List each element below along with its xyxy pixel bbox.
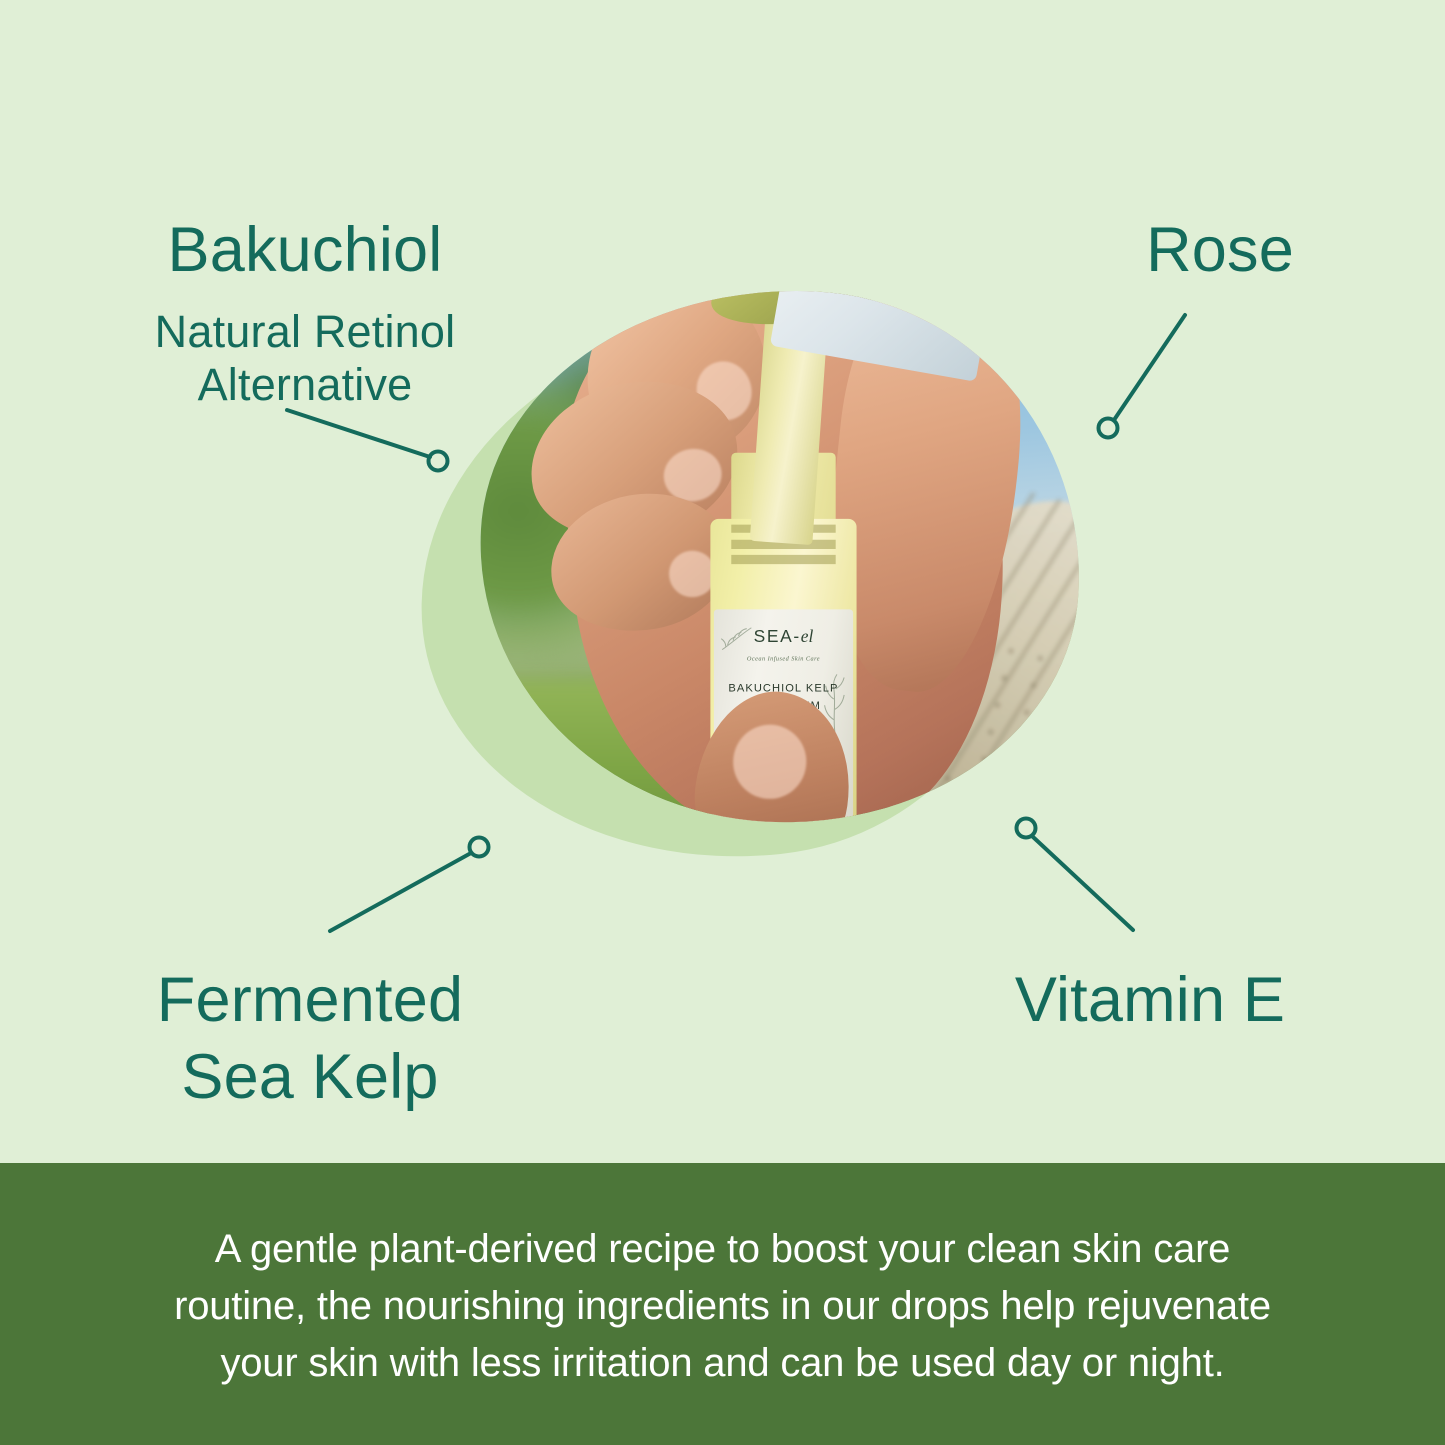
- ring-marker-rose: [1099, 419, 1118, 438]
- ingredient-label-fermented-sea-kelp: Fermented Sea Kelp: [65, 945, 555, 1133]
- brand-script: el: [801, 627, 814, 646]
- product-photo-blob-mask: SEA-el Ocean Infused Skin Care BAKUCHIOL…: [466, 275, 1093, 838]
- ingredient-label-bakuchiol: Bakuchiol Natural Retinol Alternative: [60, 200, 550, 428]
- infographic-canvas: SEA-el Ocean Infused Skin Care BAKUCHIOL…: [0, 0, 1445, 1445]
- ingredient-label-vitamin-e: Vitamin E: [930, 950, 1370, 1051]
- bottle-brand: SEA-el: [713, 626, 853, 647]
- ingredient-name-fermented-sea-kelp: Fermented Sea Kelp: [65, 962, 555, 1116]
- description-banner-text: A gentle plant-derived recipe to boost y…: [70, 1221, 1375, 1391]
- ingredient-name-rose: Rose: [1020, 217, 1420, 284]
- leader-line-rose: [1114, 315, 1185, 420]
- ingredient-name-vitamin-e: Vitamin E: [930, 967, 1370, 1034]
- description-banner: A gentle plant-derived recipe to boost y…: [0, 1163, 1445, 1445]
- product-photo-image: SEA-el Ocean Infused Skin Care BAKUCHIOL…: [466, 275, 1093, 838]
- brand-sea: SEA: [754, 626, 794, 646]
- bottle-tagline: Ocean Infused Skin Care: [713, 656, 853, 663]
- bottle-ring: [731, 555, 836, 564]
- ingredient-label-rose: Rose: [1020, 200, 1420, 301]
- ingredient-subtitle-bakuchiol: Natural Retinol Alternative: [60, 305, 550, 411]
- ingredient-name-bakuchiol: Bakuchiol: [60, 217, 550, 284]
- photo-thumbnail: [729, 720, 812, 804]
- brand-separator: -: [793, 626, 800, 646]
